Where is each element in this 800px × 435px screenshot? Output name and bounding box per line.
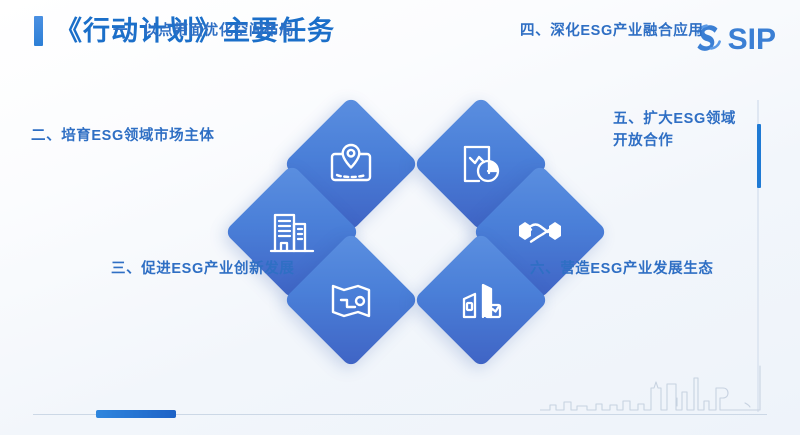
handshake-icon xyxy=(511,203,569,261)
sip-logo-text: SIP xyxy=(728,25,776,55)
office-buildings-icon xyxy=(263,203,321,261)
task-label-5-line1: 五、扩大ESG领域 xyxy=(613,108,753,130)
map-location-pin-icon xyxy=(322,135,380,193)
title-accent-bar xyxy=(34,16,43,46)
task-label-1: 一、以点带面优化空间布局 xyxy=(113,20,294,42)
task-label-4: 四、深化ESG产业融合应用 xyxy=(520,20,703,42)
task-label-5-line2: 开放合作 xyxy=(613,130,753,152)
task-label-5: 五、扩大ESG领域 开放合作 xyxy=(613,108,753,153)
right-vertical-progress xyxy=(757,124,761,188)
task-label-6: 六、营造ESG产业发展生态 xyxy=(530,258,713,280)
task-label-2: 二、培育ESG领域市场主体 xyxy=(31,125,214,147)
document-pie-chart-icon xyxy=(452,135,510,193)
folded-map-route-icon xyxy=(322,271,380,329)
factory-chart-icon xyxy=(452,271,510,329)
slide-canvas: 《行动计划》主要任务 SIP xyxy=(0,0,800,435)
task-label-3: 三、促进ESG产业创新发展 xyxy=(111,258,294,280)
bottom-progress-indicator[interactable] xyxy=(96,410,176,418)
sip-logo: SIP xyxy=(692,20,776,59)
